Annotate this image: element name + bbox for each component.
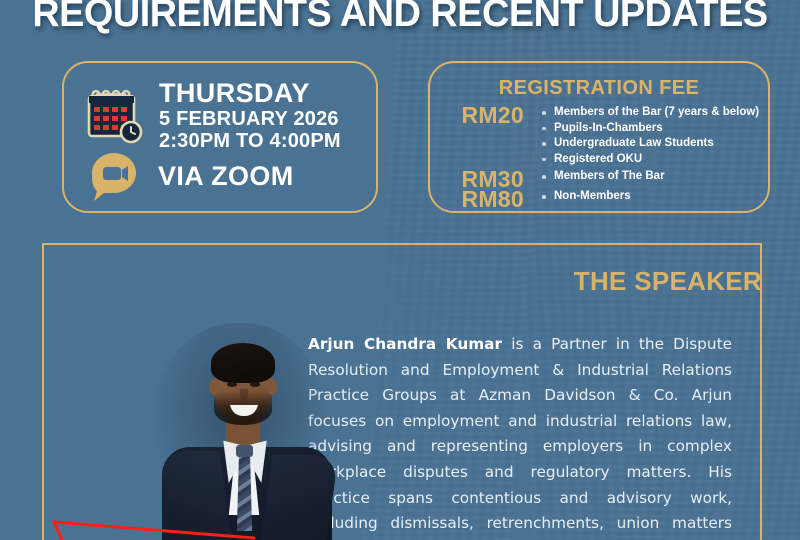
fee-item: Undergraduate Law Students xyxy=(540,136,759,152)
event-day: THURSDAY xyxy=(159,79,341,108)
fee-item: Pupils-In-Chambers xyxy=(540,121,759,137)
fee-item-list: Non-Members xyxy=(540,189,631,205)
fee-card-title: REGISTRATION FEE xyxy=(430,77,768,100)
registration-fee-card: REGISTRATION FEE RM20 Members of the Bar… xyxy=(428,61,770,213)
fee-group: RM20 Members of the Bar (7 years & below… xyxy=(446,105,759,167)
page-title: REQUIREMENTS AND RECENT UPDATES xyxy=(12,0,788,40)
fee-item: Non-Members xyxy=(540,189,631,205)
event-date: 5 FEBRUARY 2026 xyxy=(159,108,341,130)
fee-amount: RM20 xyxy=(446,105,524,126)
speaker-bio: Arjun Chandra Kumar is a Partner in the … xyxy=(308,332,732,540)
speaker-bio-text: is a Partner in the Dispute Resolution a… xyxy=(308,335,732,540)
datetime-card: THURSDAY 5 FEBRUARY 2026 2:30PM TO 4:00P… xyxy=(62,61,378,213)
datetime-platform-row: VIA ZOOM xyxy=(88,151,294,201)
event-time: 2:30PM TO 4:00PM xyxy=(159,130,341,152)
red-annotation-mark xyxy=(48,508,258,540)
fee-item: Registered OKU xyxy=(540,152,759,168)
fee-group: RM80 Non-Members xyxy=(446,189,631,210)
speaker-section-title: THE SPEAKER xyxy=(574,266,762,297)
speaker-portrait xyxy=(140,305,340,540)
datetime-text-block: THURSDAY 5 FEBRUARY 2026 2:30PM TO 4:00P… xyxy=(159,79,341,152)
datetime-top-row: THURSDAY 5 FEBRUARY 2026 2:30PM TO 4:00P… xyxy=(86,79,341,152)
fee-amount: RM80 xyxy=(446,189,524,210)
fee-item: Members of the Bar (7 years & below) xyxy=(540,105,759,121)
poster-canvas: REQUIREMENTS AND RECENT UPDATES xyxy=(0,0,800,540)
fee-item-list: Members of the Bar (7 years & below) Pup… xyxy=(540,105,759,167)
calendar-clock-icon xyxy=(86,88,144,144)
fee-item: Members of The Bar xyxy=(540,169,665,185)
event-platform: VIA ZOOM xyxy=(158,161,294,192)
video-chat-icon xyxy=(88,151,140,201)
fee-item-list: Members of The Bar xyxy=(540,169,665,185)
